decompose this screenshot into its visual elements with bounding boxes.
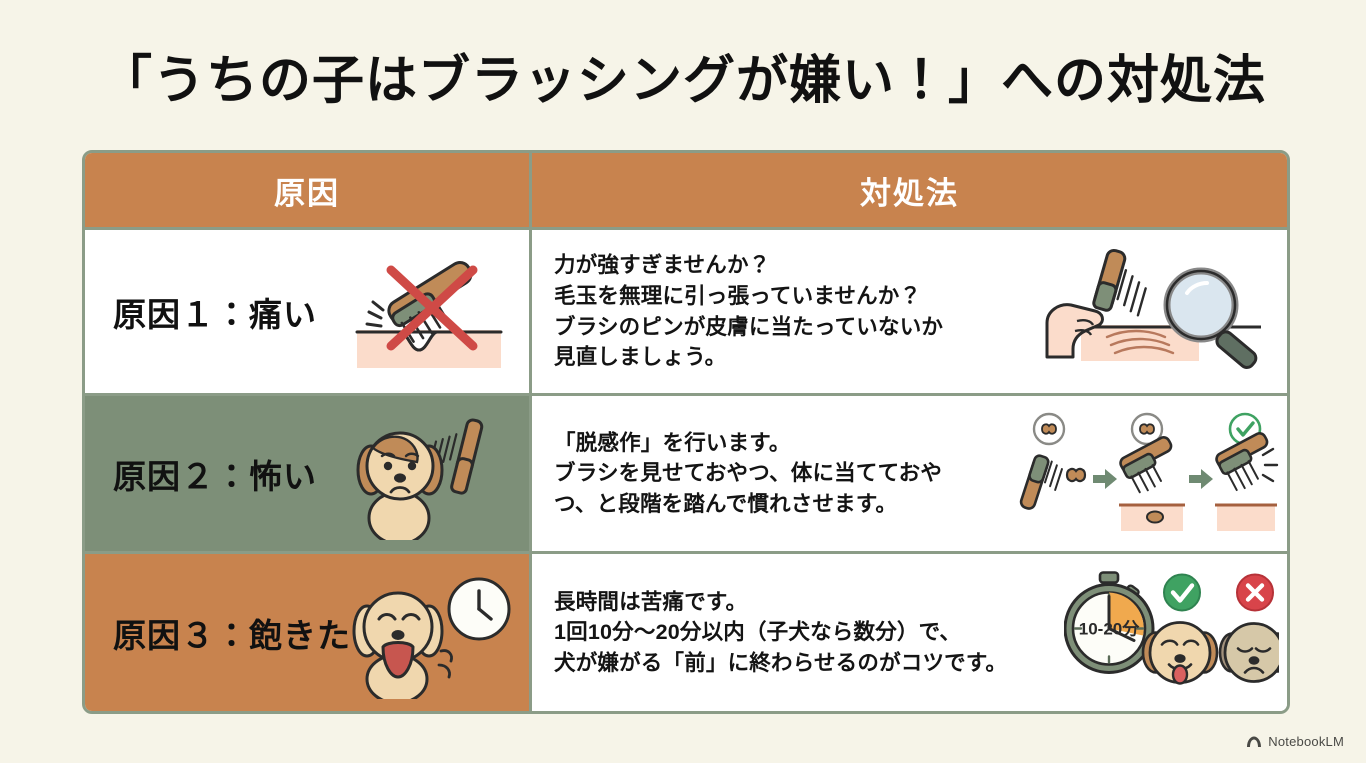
three-step-desensitization-icon xyxy=(1009,409,1279,539)
clock-icon xyxy=(449,579,509,639)
notebooklm-watermark: NotebookLM xyxy=(1246,734,1344,749)
cause-label-3: 原因３：飽きた xyxy=(113,609,351,657)
page-title: 「うちの子はブラッシングが嫌い！」への対処法 xyxy=(0,38,1366,113)
step-1-brush-and-treat xyxy=(1020,414,1085,515)
cause-cell-2: 原因２：怖い xyxy=(85,396,532,551)
notebooklm-logo-icon xyxy=(1246,735,1262,749)
notebooklm-watermark-label: NotebookLM xyxy=(1268,734,1344,749)
step-2-brush-on-body xyxy=(1118,414,1185,531)
table-row: 原因１：痛い xyxy=(85,227,1287,393)
text-line: 長時間は苦痛です。 xyxy=(554,587,1007,618)
countermeasure-text-3: 長時間は苦痛です。 1回10分〜20分以内（子犬なら数分）で、 犬が嫌がる「前」… xyxy=(554,587,1007,679)
text-line: ブラシのピンが皮膚に当たっていないか xyxy=(554,312,943,343)
cause-label-1: 原因１：痛い xyxy=(113,288,317,336)
arrow-1-icon xyxy=(1093,469,1117,489)
step-3-success xyxy=(1214,414,1279,531)
column-header-countermeasure: 対処法 xyxy=(532,153,1287,227)
cause-label-2: 原因２：怖い xyxy=(113,450,317,498)
text-line: 毛玉を無理に引っ張っていませんか？ xyxy=(554,281,943,312)
text-line: ブラシを見せておやつ、体に当てておや xyxy=(554,458,942,489)
countermeasure-cell-2: 「脱感作」を行います。 ブラシを見せておやつ、体に当てておや つ、と段階を踏んで… xyxy=(532,396,1287,551)
table-row: 原因２：怖い xyxy=(85,393,1287,551)
countermeasure-text-2: 「脱感作」を行います。 ブラシを見せておやつ、体に当てておや つ、と段階を踏んで… xyxy=(554,428,942,520)
stopwatch-icon: 10-20分 xyxy=(1065,572,1153,672)
cause-cell-3: 原因３：飽きた xyxy=(85,554,532,711)
stopwatch-label: 10-20分 xyxy=(1079,619,1140,638)
text-line: 力が強すぎませんか？ xyxy=(554,250,943,281)
countermeasure-cell-1: 力が強すぎませんか？ 毛玉を無理に引っ張っていませんか？ ブラシのピンが皮膚に当… xyxy=(532,230,1287,393)
text-line: つ、と段階を踏んで慣れさせます。 xyxy=(554,489,942,520)
table-row: 原因３：飽きた xyxy=(85,551,1287,711)
yawning-dog-with-clock-icon xyxy=(339,567,519,699)
cause-cell-1: 原因１：痛い xyxy=(85,230,532,393)
slide-canvas: 「うちの子はブラッシングが嫌い！」への対処法 原因 対処法 原因１：痛い xyxy=(0,0,1366,763)
arrow-2-icon xyxy=(1189,469,1213,489)
countermeasure-text-1: 力が強すぎませんか？ 毛玉を無理に引っ張っていませんか？ ブラシのピンが皮膚に当… xyxy=(554,250,943,372)
text-line: 1回10分〜20分以内（子犬なら数分）で、 xyxy=(554,617,1007,648)
stopwatch-happy-dog-sad-dog-icon: 10-20分 xyxy=(1064,568,1279,698)
hand-brush-magnifier-skin-icon xyxy=(1029,247,1279,377)
brush-pressing-skin-crossed-out-icon xyxy=(339,246,519,378)
worried-dog-with-brush-icon xyxy=(339,408,519,540)
text-line: 犬が嫌がる「前」に終わらせるのがコツです。 xyxy=(554,648,1007,679)
column-header-cause: 原因 xyxy=(85,153,532,227)
sad-dog-rejected xyxy=(1220,574,1279,681)
table-header-row: 原因 対処法 xyxy=(85,153,1287,227)
cause-countermeasure-table: 原因 対処法 原因１：痛い xyxy=(82,150,1290,714)
countermeasure-cell-3: 長時間は苦痛です。 1回10分〜20分以内（子犬なら数分）で、 犬が嫌がる「前」… xyxy=(532,554,1287,711)
text-line: 見直しましょう。 xyxy=(554,342,943,373)
text-line: 「脱感作」を行います。 xyxy=(554,428,942,459)
